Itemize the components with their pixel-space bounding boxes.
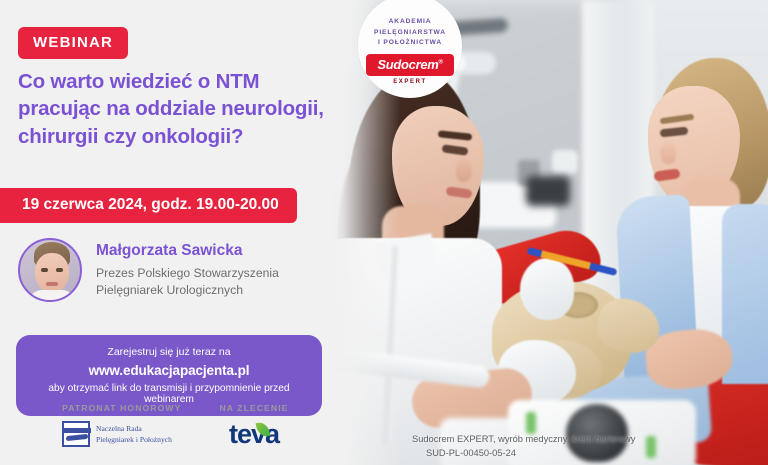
webinar-promo-banner: WEBINAR Co warto wiedzieć o NTM pracując…: [0, 0, 768, 465]
webinar-badge: WEBINAR: [18, 27, 128, 59]
akademia-line-2: PIELĘGNIARSTWA: [374, 28, 446, 39]
nrpip-line-1: Naczelna Rada: [96, 423, 172, 434]
nrpip-logo: Naczelna Rada Pielęgniarek i Położnych: [62, 421, 181, 447]
akademia-line-3: I POŁOŻNICTWA: [374, 38, 446, 49]
avatar-face: [35, 253, 69, 293]
nurse-nose: [456, 160, 472, 182]
device-green-indicator-right: [646, 436, 656, 458]
nrpip-logo-text: Naczelna Rada Pielęgniarek i Położnych: [96, 423, 172, 445]
commission-label: NA ZLECENIE: [219, 403, 288, 413]
nurse-gloved-hand-upper: [520, 258, 574, 320]
akademia-line-1: AKADEMIA: [374, 17, 446, 28]
product-disclaimer: Sudocrem EXPERT, wyrób medyczny, krem ba…: [412, 432, 635, 461]
speaker-text: Małgorzata Sawicka Prezes Polskiego Stow…: [96, 238, 279, 299]
patronage-label: PATRONAT HONOROWY: [62, 403, 181, 413]
speaker-role-line-2: Pielęgniarek Urologicznych: [96, 282, 279, 299]
sudocrem-wordmark: Sudocrem: [377, 57, 438, 72]
page-title: Co warto wiedzieć o NTM pracując na oddz…: [18, 68, 328, 150]
background-equipment: [526, 176, 570, 206]
footer: PATRONAT HONOROWY Naczelna Rada Pielęgni…: [0, 403, 340, 448]
nrpip-wave-icon: [62, 421, 90, 447]
speaker-name: Małgorzata Sawicka: [96, 242, 279, 260]
akademia-title: AKADEMIA PIELĘGNIARSTWA I POŁOŻNICTWA: [374, 17, 446, 49]
registration-prefix: Zarejestruj się już teraz na: [107, 346, 230, 358]
registration-url[interactable]: www.edukacjapacjenta.pl: [89, 363, 250, 378]
device-green-indicator-left: [526, 412, 536, 434]
speaker-role-line-1: Prezes Polskiego Stowarzyszenia: [96, 265, 279, 282]
teva-wordmark: teva: [229, 419, 279, 449]
avatar-eye-right: [56, 268, 63, 272]
nrpip-line-2: Pielęgniarek i Położnych: [96, 434, 172, 445]
avatar: [18, 238, 82, 302]
speaker-block: Małgorzata Sawicka Prezes Polskiego Stow…: [18, 238, 328, 302]
commission-column: NA ZLECENIE teva: [219, 403, 288, 448]
patient-nose: [660, 142, 676, 164]
disclaimer-text: Sudocrem EXPERT, wyrób medyczny, krem ba…: [412, 434, 635, 444]
registration-line-2: aby otrzymać link do transmisji i przypo…: [28, 383, 310, 405]
content-panel: WEBINAR Co warto wiedzieć o NTM pracując…: [0, 0, 340, 465]
avatar-eye-left: [41, 268, 48, 272]
teva-logo: teva: [229, 421, 279, 448]
avatar-shoulders: [28, 290, 76, 302]
avatar-lips: [46, 282, 58, 286]
sudocrem-brand-pill: Sudocrem®: [366, 54, 453, 76]
patronage-column: PATRONAT HONOROWY Naczelna Rada Pielęgni…: [62, 403, 181, 447]
disclaimer-code: SUD-PL-00450-05-24: [412, 446, 635, 460]
registration-line-1: Zarejestruj się już teraz na www.edukacj…: [28, 345, 310, 381]
sudocrem-expert-label: EXPERT: [393, 79, 427, 85]
gauze-roll: [552, 150, 578, 174]
speaker-role: Prezes Polskiego Stowarzyszenia Pielęgni…: [96, 265, 279, 299]
date-time-badge: 19 czerwca 2024, godz. 19.00-20.00: [0, 188, 297, 223]
registered-trademark-icon: ®: [439, 60, 443, 66]
